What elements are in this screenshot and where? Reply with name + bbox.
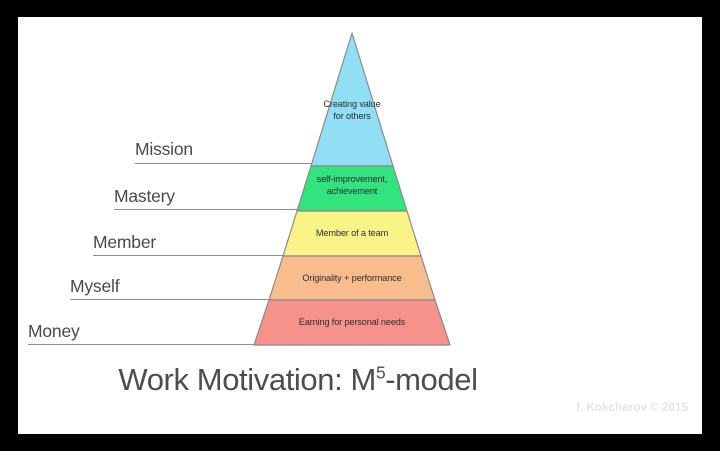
tier-label-money[interactable]: Money [28, 322, 80, 341]
tier-label-mission[interactable]: Mission [135, 140, 193, 159]
tier-label-member[interactable]: Member [93, 233, 156, 252]
slide-letterbox-frame: Creating value for others self-improveme… [0, 0, 720, 451]
diagram-title-superscript: 5 [376, 363, 385, 383]
slide-canvas: Creating value for others self-improveme… [18, 17, 702, 434]
diagram-title-suffix: -model [385, 362, 477, 397]
pyramid-band-myself[interactable] [269, 256, 435, 300]
pyramid-band-mastery[interactable] [297, 166, 407, 211]
leader-line-mastery [114, 209, 300, 210]
tier-label-myself[interactable]: Myself [70, 277, 119, 296]
leader-line-member [93, 255, 285, 256]
copyright-notice: I. Kokcharov © 2015 [577, 402, 688, 414]
leader-line-mission [135, 163, 312, 164]
leader-line-myself [70, 299, 271, 300]
pyramid-band-mission[interactable] [311, 33, 393, 166]
diagram-title: Work Motivation: M5-model [18, 361, 578, 398]
pyramid-band-member[interactable] [283, 211, 421, 256]
tier-label-mastery[interactable]: Mastery [114, 187, 175, 206]
diagram-title-main: Work Motivation: M [118, 362, 376, 397]
leader-line-money [28, 344, 256, 345]
pyramid-band-money[interactable] [254, 300, 450, 345]
